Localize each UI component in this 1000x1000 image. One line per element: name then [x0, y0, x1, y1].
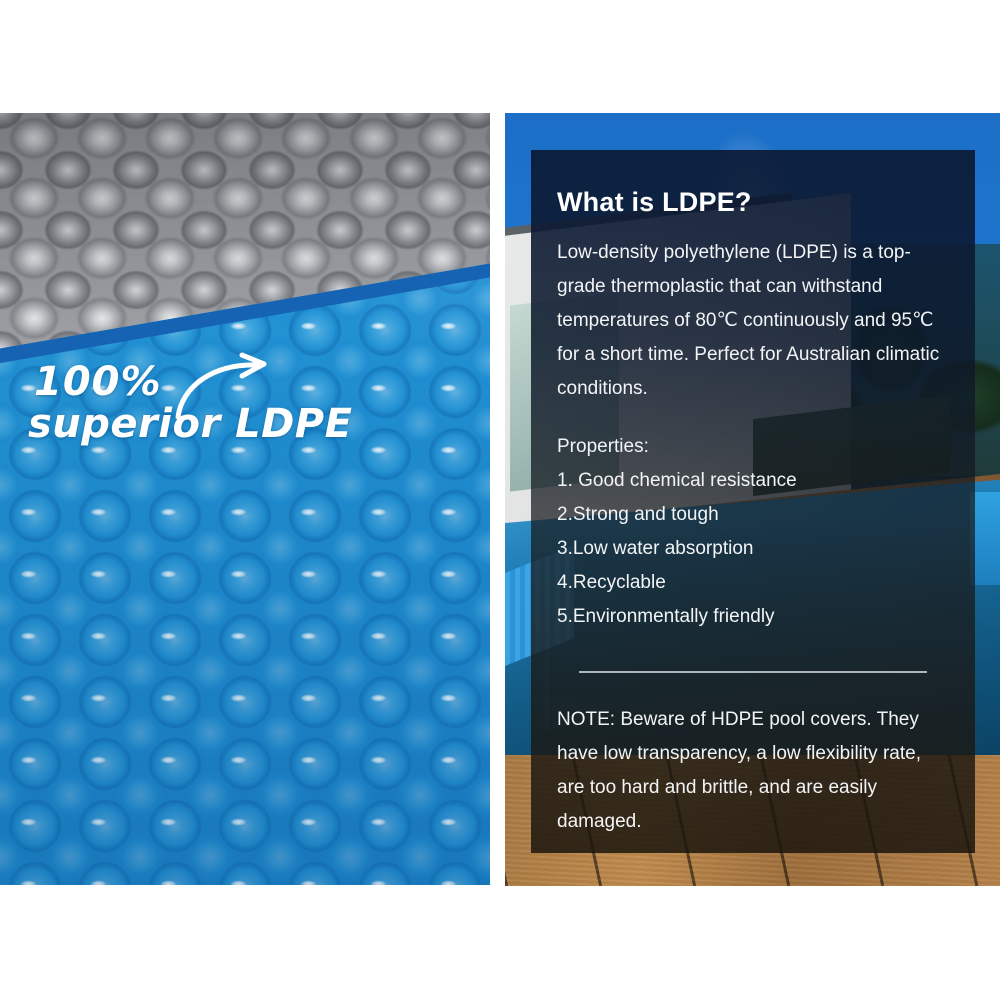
card-intro-text: Low-density polyethylene (LDPE) is a top…: [557, 236, 949, 406]
list-item: 3.Low water absorption: [557, 532, 949, 566]
card-title: What is LDPE?: [557, 187, 949, 218]
list-item: 5.Environmentally friendly: [557, 600, 949, 634]
list-item: 4.Recyclable: [557, 566, 949, 600]
left-panel-material-photo: 100% superior LDPE: [0, 113, 490, 885]
info-card: What is LDPE? Low-density polyethylene (…: [531, 150, 975, 853]
properties-heading: Properties:: [557, 430, 949, 464]
promo-graphic: 100% superior LDPE What is LDPE? Low-den…: [0, 0, 1000, 1000]
section-divider: [579, 671, 927, 673]
list-item: 2.Strong and tough: [557, 498, 949, 532]
properties-list: 1. Good chemical resistance 2.Strong and…: [557, 464, 949, 634]
card-note-text: NOTE: Beware of HDPE pool covers. They h…: [557, 703, 949, 839]
right-panel-info: What is LDPE? Low-density polyethylene (…: [505, 113, 1000, 886]
list-item: 1. Good chemical resistance: [557, 464, 949, 498]
